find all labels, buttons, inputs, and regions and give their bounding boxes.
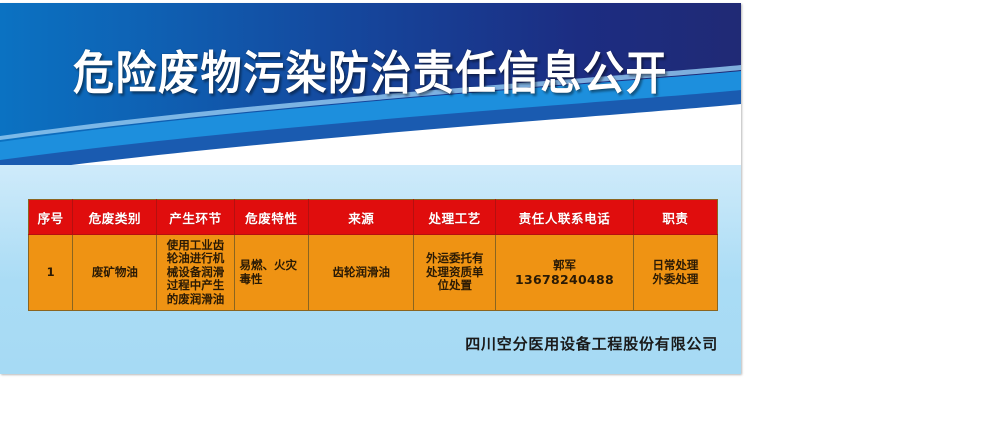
- contact-phone: 13678240488: [498, 273, 631, 287]
- process-line: 位处置: [416, 279, 493, 293]
- generation-line: 轮油进行机: [159, 252, 231, 266]
- column-header-duty: 职责: [633, 200, 717, 235]
- generation-line: 的废润滑油: [159, 293, 231, 307]
- cell-hazard: 易燃、火灾 毒性: [234, 235, 309, 311]
- generation-line: 使用工业齿: [159, 239, 231, 253]
- hazardous-waste-table: 序号 危废类别 产生环节 危废特性 来源 处理工艺 责任人联系电话 职责 1 废…: [28, 199, 718, 311]
- header-swoosh-graphic: [0, 3, 741, 165]
- column-header-contact: 责任人联系电话: [496, 200, 634, 235]
- table-header-row: 序号 危废类别 产生环节 危废特性 来源 处理工艺 责任人联系电话 职责: [29, 200, 718, 235]
- poster-header-banner: 危险废物污染防治责任信息公开: [0, 3, 741, 165]
- cell-contact: 郭军 13678240488: [496, 235, 634, 311]
- cell-process: 外运委托有 处理资质单 位处置: [414, 235, 496, 311]
- screenshot-canvas: 危险废物污染防治责任信息公开 序号 危废类别 产生环节 危废特性 来源 处理: [0, 0, 1000, 442]
- cell-generation: 使用工业齿 轮油进行机 械设备润滑 过程中产生 的废润滑油: [157, 235, 234, 311]
- company-name: 四川空分医用设备工程股份有限公司: [0, 333, 718, 354]
- table-row: 1 废矿物油 使用工业齿 轮油进行机 械设备润滑 过程中产生 的废润滑油 易燃、…: [29, 235, 718, 311]
- cell-source: 齿轮润滑油: [309, 235, 414, 311]
- process-line: 外运委托有: [416, 252, 493, 266]
- column-header-generation: 产生环节: [157, 200, 234, 235]
- column-header-hazard: 危废特性: [234, 200, 309, 235]
- hazardous-waste-table-container: 序号 危废类别 产生环节 危废特性 来源 处理工艺 责任人联系电话 职责 1 废…: [28, 199, 718, 311]
- generation-line: 械设备润滑: [159, 266, 231, 280]
- column-header-process: 处理工艺: [414, 200, 496, 235]
- duty-line: 外委处理: [636, 273, 715, 287]
- contact-name: 郭军: [498, 259, 631, 273]
- hazard-line: 毒性: [240, 273, 307, 287]
- column-header-source: 来源: [309, 200, 414, 235]
- column-header-category: 危废类别: [73, 200, 157, 235]
- cell-duty: 日常处理 外委处理: [633, 235, 717, 311]
- cell-category: 废矿物油: [73, 235, 157, 311]
- information-poster: 危险废物污染防治责任信息公开 序号 危废类别 产生环节 危废特性 来源 处理: [0, 3, 741, 374]
- duty-line: 日常处理: [636, 259, 715, 273]
- process-line: 处理资质单: [416, 266, 493, 280]
- column-header-seq: 序号: [29, 200, 73, 235]
- hazard-line: 易燃、火灾: [240, 259, 307, 273]
- cell-seq: 1: [29, 235, 73, 311]
- generation-line: 过程中产生: [159, 279, 231, 293]
